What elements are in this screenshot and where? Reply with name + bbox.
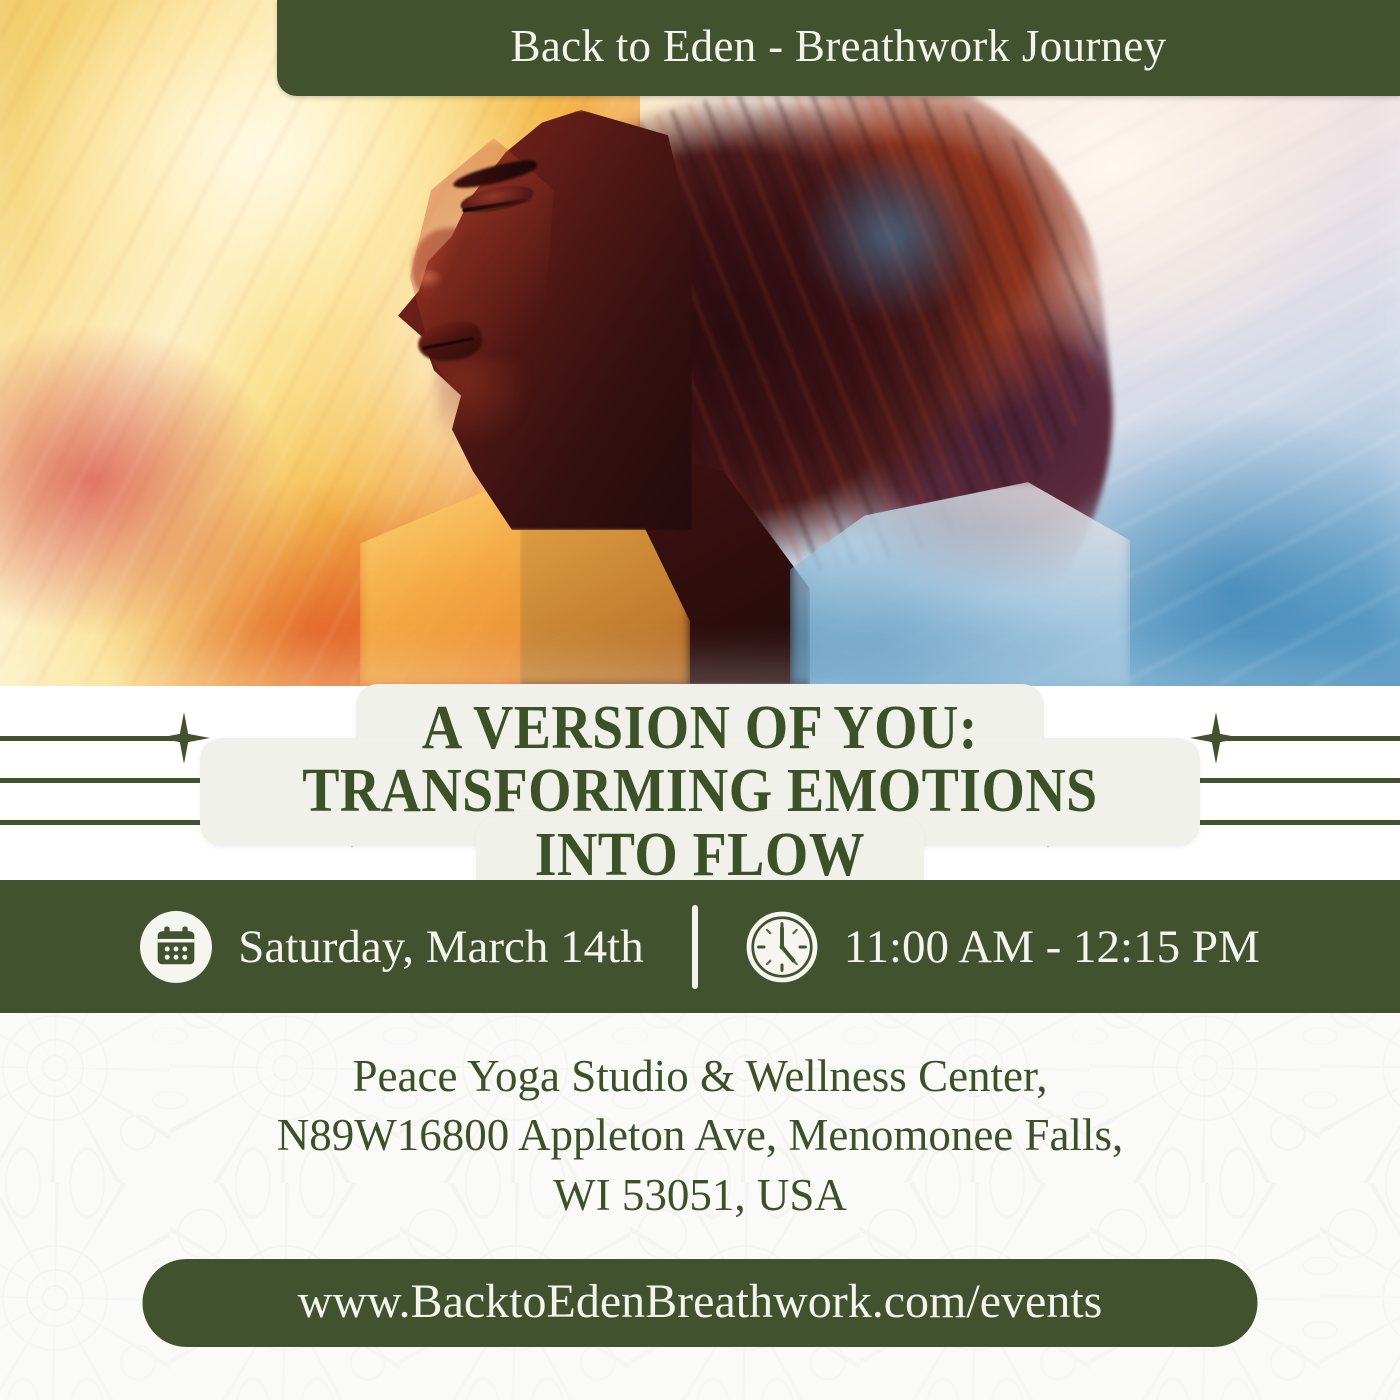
venue-line-1: Peace Yoga Studio & Wellness Center, [140, 1047, 1260, 1106]
calendar-icon [140, 911, 212, 983]
banner-title: Back to Eden - Breathwork Journey [511, 20, 1167, 76]
date-time-bar: Saturday, March 14th [0, 880, 1400, 1013]
title-line-2: TRANSFORMING EMOTIONS [302, 760, 1097, 823]
hero-vignette [0, 0, 1400, 686]
event-date: Saturday, March 14th [238, 920, 644, 974]
venue-line-3: WI 53051, USA [140, 1166, 1260, 1225]
venue-address: Peace Yoga Studio & Wellness Center, N89… [140, 1047, 1260, 1225]
header-banner: Back to Eden - Breathwork Journey [277, 0, 1400, 96]
time-group: 11:00 AM - 12:15 PM [698, 911, 1260, 983]
clock-icon [746, 911, 818, 983]
venue-line-2: N89W16800 Appleton Ave, Menomonee Falls, [140, 1106, 1260, 1165]
event-time: 11:00 AM - 12:15 PM [844, 920, 1260, 974]
date-group: Saturday, March 14th [140, 911, 692, 983]
event-title-panel: A VERSION OF YOU: TRANSFORMING EMOTIONS … [200, 676, 1200, 908]
event-poster: Back to Eden - Breathwork Journey [0, 0, 1400, 1400]
title-line-1: A VERSION OF YOU: [302, 697, 1097, 760]
website-url-text: www.BacktoEdenBreathwork.com/events [298, 1274, 1103, 1333]
page-title: A VERSION OF YOU: TRANSFORMING EMOTIONS … [302, 697, 1097, 887]
website-url-button[interactable]: www.BacktoEdenBreathwork.com/events [143, 1259, 1258, 1347]
hero-image [0, 0, 1400, 686]
title-line-3: INTO FLOW [302, 824, 1097, 887]
